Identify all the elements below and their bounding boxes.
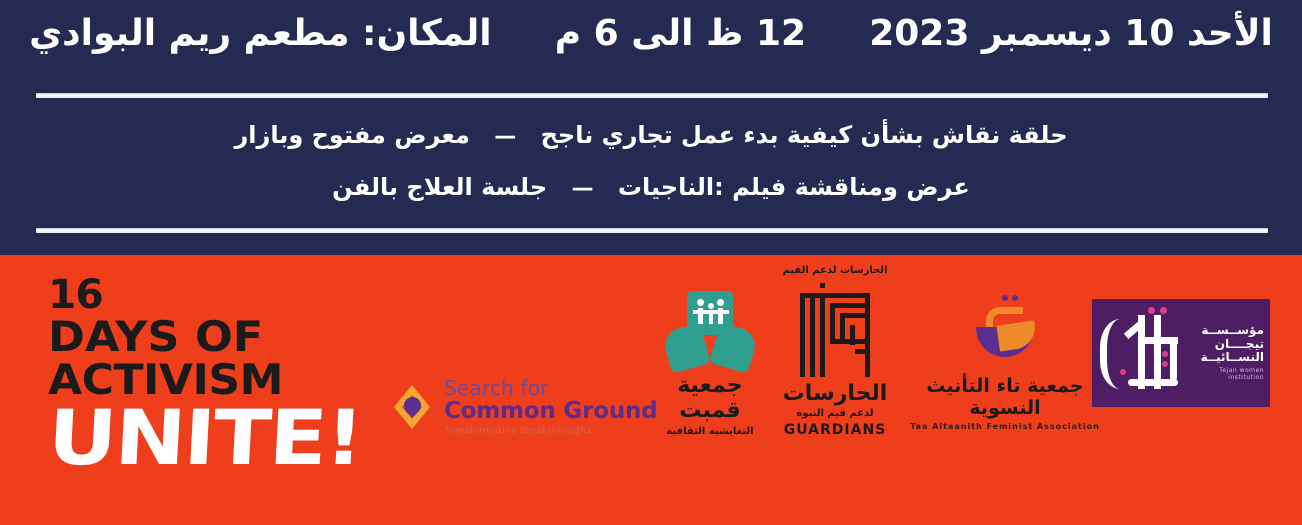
event-item-film-screening: عرض ومناقشة فيلم :الناجيات [618, 173, 970, 201]
partner-logo-guardians: الحارسات لدعم القيم الحارسات [775, 265, 895, 438]
event-item-open-bazaar: معرض مفتوح وبازار [234, 121, 469, 149]
tejan-name-line1: مؤســســة [1200, 324, 1264, 337]
maze-guardians-icon [796, 281, 874, 377]
tejan-name-line2: تيجــــان [1200, 338, 1264, 351]
sfcg-name-line1: Search for [444, 378, 657, 398]
event-item-art-therapy: جلسة العلاج بالفن [332, 173, 547, 201]
event-item-panel-discussion: حلقة نقاش بشأن كيفية بدء عمل تجاري ناجح [541, 121, 1068, 149]
campaign-line-days-of: DAYS OF [48, 316, 377, 358]
divider-top [36, 93, 1268, 98]
guardians-subtitle-ar: لدعم قيم النبوة [775, 408, 895, 419]
header-info-line: الأحد 10 ديسمبر 2023 12 ظ الى 6 م المكان… [0, 8, 1302, 60]
guardians-name-ar: الحارسات [775, 381, 895, 406]
tejan-name-en: Tejan women institution [1200, 368, 1264, 381]
event-date: الأحد 10 ديسمبر 2023 [869, 8, 1273, 60]
partner-logo-row: Search for Common Ground Transformative … [380, 263, 1280, 518]
event-time: 12 ظ الى 6 م [555, 8, 806, 60]
campaign-slogan-unite: UNITE! [46, 399, 397, 477]
events-line-2: عرض ومناقشة فيلم :الناجيات — جلسة العلاج… [0, 172, 1302, 204]
event-poster: الأحد 10 ديسمبر 2023 12 ظ الى 6 م المكان… [0, 0, 1302, 525]
event-venue: المكان: مطعم ريم البوادي [29, 8, 491, 60]
diamond-heart-icon [390, 379, 434, 435]
sfcg-name-line2: Common Ground [444, 400, 657, 423]
hands-holding-family-icon [665, 291, 755, 369]
events-line-1: حلقة نقاش بشأن كيفية بدء عمل تجاري ناجح … [0, 120, 1302, 152]
divider-bottom [36, 228, 1268, 233]
tejan-wordmark: مؤســســة تيجــــان النســائيــة Tejan w… [1200, 324, 1264, 382]
sfcg-tagline: Transformative Breakthroughs [444, 427, 657, 436]
partner-logo-taa-altaanith: جمعية تاء التأنيث النسوية Taa Altaanith … [900, 293, 1110, 431]
taa-name-ar: جمعية تاء التأنيث النسوية [900, 375, 1110, 419]
calligraphy-face-icon [1098, 307, 1194, 399]
tejan-logo-box: مؤســســة تيجــــان النســائيــة Tejan w… [1092, 299, 1270, 407]
guardians-name-en: GUARDIANS [775, 422, 895, 438]
taa-letter-icon [970, 293, 1040, 369]
partner-logo-qambat-association: جمعية قمبت التعايشية الثقافية [645, 291, 775, 437]
event-separator: — [556, 174, 610, 204]
navy-info-panel: الأحد 10 ديسمبر 2023 12 ظ الى 6 م المكان… [0, 0, 1302, 255]
campaign-number: 16 [48, 275, 364, 315]
qambat-name-ar: جمعية قمبت [645, 373, 775, 423]
taa-name-en: Taa Altaanith Feminist Association [900, 422, 1110, 431]
partner-logo-search-for-common-ground: Search for Common Ground Transformative … [390, 378, 657, 436]
campaign-logo-16-days: 16 DAYS OF ACTIVISM UNITE! [48, 275, 358, 505]
event-separator: — [478, 122, 532, 152]
partner-logo-tejan-women-institution: مؤســســة تيجــــان النســائيــة Tejan w… [1092, 299, 1270, 407]
qambat-subtitle-ar: التعايشية الثقافية [645, 426, 775, 437]
orange-logo-panel: 16 DAYS OF ACTIVISM UNITE! Search for Co… [0, 255, 1302, 525]
sfcg-wordmark: Search for Common Ground Transformative … [444, 378, 657, 436]
tejan-name-line3: النســائيــة [1200, 351, 1264, 364]
guardians-top-ar: الحارسات لدعم القيم [775, 265, 895, 276]
